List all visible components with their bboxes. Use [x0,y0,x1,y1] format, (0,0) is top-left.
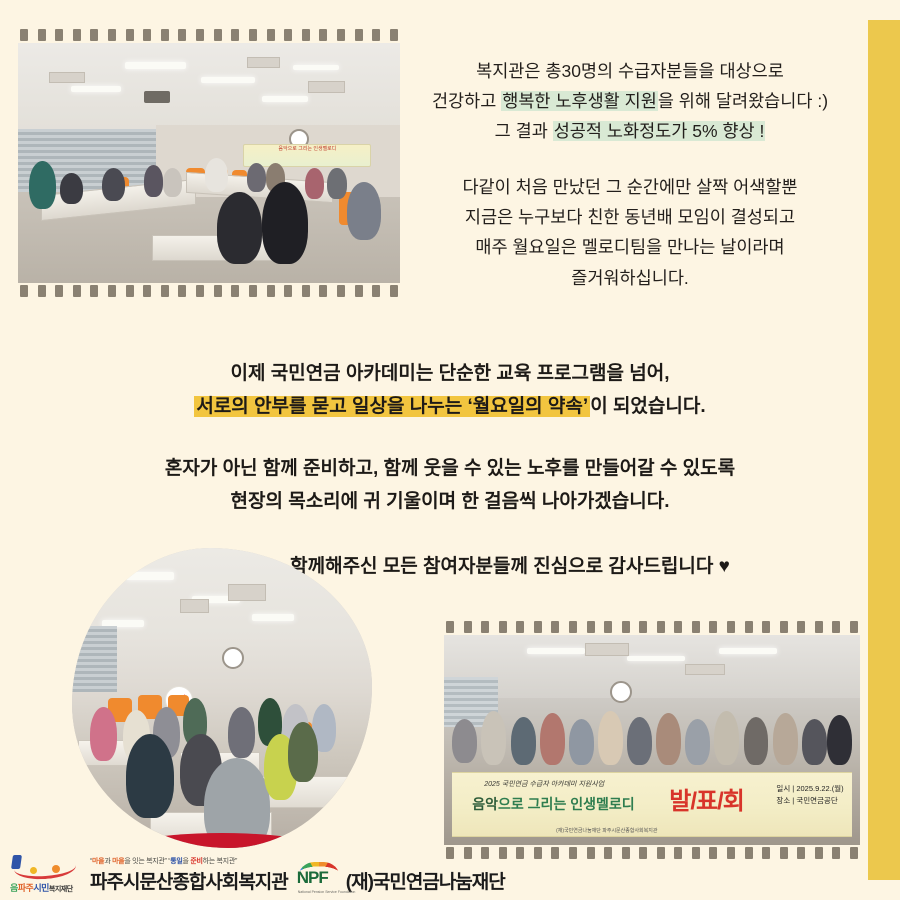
tagline-2-word-2: 준비 [190,858,202,865]
film-sprocket-hole [815,621,823,633]
photo-meeting-room-image: 음악으로 그리는 인생멜로디 [18,43,400,283]
film-sprocket-hole [337,285,345,297]
message-line-2: 서로의 안부를 묻고 일상을 나누는 ‘월요일의 약속’이 되었습니다. [40,391,860,424]
film-sprocket-hole [20,285,28,297]
intro-line-3-highlight: 성공적 노화정도가 5% 향상 ! [553,121,766,141]
npf-sub-wordmark: National Pension Service Foundation [298,890,356,894]
film-sprocket-hole [284,285,292,297]
film-sprocket-hole [534,621,542,633]
film-sprocket-hole [390,285,398,297]
film-sprocket-hole [73,285,81,297]
intro-line-1: 복지관은 총30명의 수급자분들을 대상으로 [400,56,860,86]
film-sprocket-hole [516,621,524,633]
film-sprocket-hole [745,621,753,633]
ceremony-banner-info: 일시 | 2025.9.22.(월) 장소 | 국민연금공단 [776,783,843,807]
film-sprocket-hole [569,621,577,633]
film-sprocket-hole [692,621,700,633]
pajusi-logo-wordmark: 음파주시민복지재단 [10,881,73,894]
film-sprocket-hole [196,29,204,41]
film-sprocket-hole [161,29,169,41]
film-sprocket-row-top-2 [444,620,860,634]
film-sprocket-hole [126,285,134,297]
ceremony-place: 장소 | 국민연금공단 [776,795,843,807]
film-sprocket-hole [372,29,380,41]
pajusi-word-1: 음 [10,883,18,893]
film-sprocket-hole [161,285,169,297]
film-sprocket-hole [657,621,665,633]
npf-logo-icon: NPF National Pension Service Foundation [296,862,342,894]
film-sprocket-hole [20,29,28,41]
message2-line-2: 현장의 목소리에 귀 기울이며 한 걸음씩 나아가겠습니다. [40,486,860,519]
film-sprocket-hole [337,29,345,41]
film-sprocket-hole [372,285,380,297]
film-sprocket-hole [709,621,717,633]
room-banner-text: 음악으로 그리는 인생멜로디 [243,144,371,168]
intro2-line-2: 지금은 누구보다 친한 동년배 모임이 결성되고 [400,202,860,232]
film-sprocket-hole [90,29,98,41]
photo-group-ceremony-image: 2025 국민연금 수급자 아카데미 지원사업 음악으로 그리는 인생멜로디 발… [444,635,860,845]
intro-line-2-prefix: 건강하고 [432,91,501,111]
film-sprocket-hole [302,285,310,297]
film-sprocket-hole [302,29,310,41]
film-sprocket-row-top [18,28,400,42]
film-sprocket-row-bottom [18,284,400,298]
film-sprocket-hole [390,29,398,41]
photo-group-ceremony: 2025 국민연금 수급자 아카데미 지원사업 음악으로 그리는 인생멜로디 발… [444,620,860,860]
message-line-2-suffix: 이 되었습니다. [590,396,705,417]
tagline-1-close: 을 잇는 복지관” [124,858,166,865]
film-sprocket-hole [90,285,98,297]
intro-line-2-highlight: 행복한 노후생활 지원 [501,91,658,111]
film-sprocket-hole [249,285,257,297]
tagline-1-mid: 과 [104,858,112,865]
film-sprocket-hole [231,29,239,41]
intro2-line-1: 다같이 처음 만났던 그 순간에만 살짝 어색할뿐 [400,172,860,202]
tagline-2-close: 하는 복지관” [203,858,237,865]
intro2-line-3: 매주 월요일은 멜로디팀을 만나는 날이라며 [400,232,860,262]
film-sprocket-hole [178,285,186,297]
film-sprocket-hole [267,29,275,41]
welfare-center-tagline: “마을과 마을을 잇는 복지관” “통일을 준비하는 복지관” [90,856,288,866]
ceremony-banner-title: 음악으로 그리는 인생멜로디 [472,794,634,814]
tagline-1-word-1: 마을 [92,858,104,865]
film-sprocket-hole [551,621,559,633]
ceremony-title-part-1: 음악 [472,796,498,812]
film-sprocket-hole [108,29,116,41]
right-accent-band [868,20,900,880]
film-sprocket-hole [674,621,682,633]
film-sprocket-hole [639,621,647,633]
ceremony-date: 일시 | 2025.9.22.(월) [776,783,843,795]
film-sprocket-hole [604,621,612,633]
film-sprocket-hole [797,621,805,633]
npf-wordmark: NPF [297,868,328,888]
film-sprocket-hole [622,621,630,633]
film-sprocket-hole [850,621,858,633]
film-sprocket-hole [196,285,204,297]
photo-classroom-blob [72,548,372,848]
film-sprocket-hole [587,621,595,633]
film-sprocket-hole [143,285,151,297]
film-sprocket-hole [108,285,116,297]
film-sprocket-hole [249,29,257,41]
film-sprocket-hole [499,621,507,633]
film-sprocket-hole [38,29,46,41]
film-sprocket-hole [231,285,239,297]
film-sprocket-hole [143,29,151,41]
welfare-center-block: “마을과 마을을 잇는 복지관” “통일을 준비하는 복지관” 파주시문산종합사… [90,856,288,894]
film-sprocket-hole [319,285,327,297]
film-sprocket-hole [178,29,186,41]
pajusi-word-3: 시민 [33,883,49,893]
ceremony-title-part-3: 인생멜로디 [570,796,634,812]
film-sprocket-hole [267,285,275,297]
intro-line-2-suffix: 을 위해 달려왔습니다 :) [658,91,828,111]
message2-line-1: 혼자가 아닌 함께 준비하고, 함께 웃을 수 있는 노후를 만들어갈 수 있도… [40,453,860,486]
film-sprocket-hole [284,29,292,41]
intro-line-3: 그 결과 성공적 노화정도가 5% 향상 ! [400,116,860,146]
film-sprocket-hole [55,285,63,297]
film-sprocket-hole [762,621,770,633]
film-sprocket-hole [355,285,363,297]
ceremony-banner-headline: 발/표/회 [669,781,744,816]
pajusi-word-2: 파주 [18,883,34,893]
film-sprocket-hole [832,621,840,633]
welfare-center-name: 파주시문산종합사회복지관 [90,867,288,894]
ceremony-banner-credits: (재)국민연금나눔재단 파주시문산종합사회복지관 [556,827,657,834]
ceremony-banner: 2025 국민연금 수급자 아카데미 지원사업 음악으로 그리는 인생멜로디 발… [452,772,851,837]
tagline-2-word-1: 통일 [170,858,182,865]
film-sprocket-hole [214,285,222,297]
message-line-1: 이제 국민연금 아카데미는 단순한 교육 프로그램을 넘어, [40,358,860,391]
intro-text-block: 복지관은 총30명의 수급자분들을 대상으로 건강하고 행복한 노후생활 지원을… [400,56,860,297]
pajusi-word-4: 복지재단 [49,886,73,893]
film-sprocket-hole [214,29,222,41]
film-sprocket-hole [780,621,788,633]
film-sprocket-hole [73,29,81,41]
film-sprocket-hole [355,29,363,41]
pajusi-foundation-logo-icon: 음파주시민복지재단 [8,854,86,894]
intro-line-3-prefix: 그 결과 [495,121,553,141]
footer-logos: 음파주시민복지재단 “마을과 마을을 잇는 복지관” “통일을 준비하는 복지관… [0,848,860,894]
film-sprocket-hole [727,621,735,633]
ceremony-title-part-2: 으로 그리는 [498,796,570,812]
intro2-line-4: 즐거워하십니다. [400,263,860,293]
film-sprocket-hole [446,621,454,633]
photo-meeting-room: 음악으로 그리는 인생멜로디 [18,28,400,298]
film-sprocket-hole [319,29,327,41]
film-sprocket-hole [126,29,134,41]
tagline-1-word-2: 마을 [112,858,124,865]
red-accent-curve [96,833,348,848]
ceremony-banner-subtitle: 2025 국민연금 수급자 아카데미 지원사업 [484,779,604,789]
film-sprocket-hole [481,621,489,633]
npf-foundation-name: (재)국민연금나눔재단 [346,867,505,894]
message-line-2-highlight: 서로의 안부를 묻고 일상을 나누는 ‘월요일의 약속’ [194,396,590,417]
film-sprocket-hole [464,621,472,633]
film-sprocket-hole [38,285,46,297]
film-sprocket-hole [55,29,63,41]
intro-line-2: 건강하고 행복한 노후생활 지원을 위해 달려왔습니다 :) [400,86,860,116]
